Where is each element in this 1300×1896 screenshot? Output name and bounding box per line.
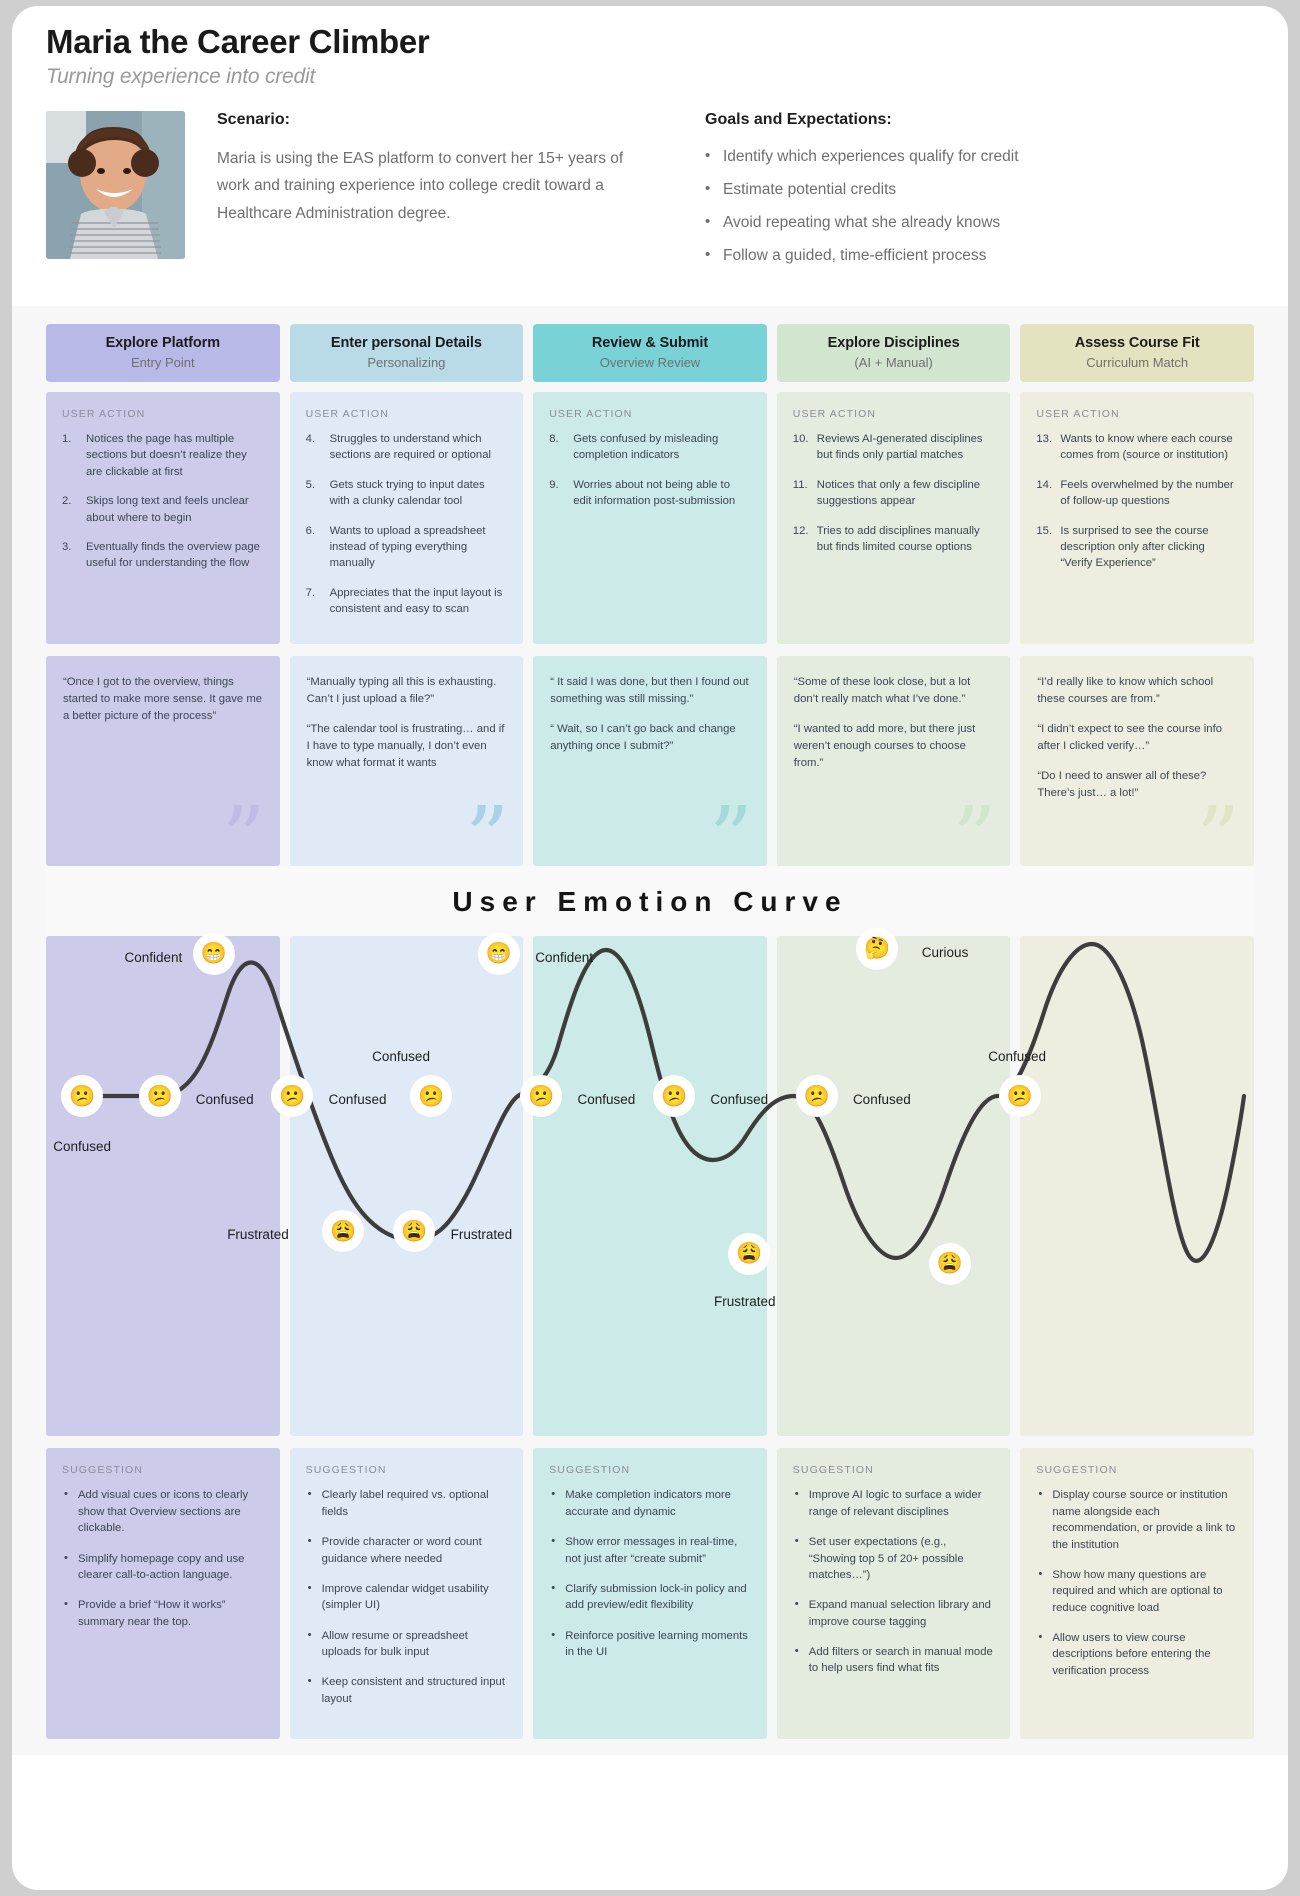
item-number: 13.	[1036, 431, 1052, 447]
quote-text: “Once I got to the overview, things star…	[63, 674, 263, 725]
item-text: Skips long text and feels unclear about …	[86, 495, 249, 523]
quote-mark-icon: ”	[952, 796, 996, 866]
goal-item: Identify which experiences qualify for c…	[705, 145, 1175, 169]
emotion-node-label: Confused	[710, 1092, 768, 1107]
card-label: USER ACTION	[62, 408, 264, 420]
item-number: 9.	[549, 477, 558, 493]
user-action-card-5: USER ACTION 13.Wants to know where each …	[1020, 392, 1254, 644]
suggestion-card-1: SUGGESTION Add visual cues or icons to c…	[46, 1448, 280, 1739]
phase-header-assess-course-fit[interactable]: Assess Course Fit Curriculum Match	[1020, 324, 1254, 382]
list-item: Show how many questions are required and…	[1036, 1567, 1238, 1616]
page-subtitle: Turning experience into credit	[46, 65, 1254, 89]
list-item: Improve AI logic to surface a wider rang…	[793, 1487, 995, 1520]
quote-text: “I didn’t expect to see the course info …	[1037, 721, 1237, 755]
quote-card-4: “Some of these look close, but a lot don…	[777, 656, 1011, 866]
item-number: 6.	[306, 523, 315, 539]
list-item: Simplify homepage copy and use clearer c…	[62, 1551, 264, 1584]
list-item: Reinforce positive learning moments in t…	[549, 1628, 751, 1661]
list-item: 4.Struggles to understand which sections…	[306, 431, 508, 464]
phase-name: Enter personal Details	[298, 335, 516, 351]
emotion-node-label: Confused	[578, 1092, 636, 1107]
list-item: 13.Wants to know where each course comes…	[1036, 431, 1238, 464]
item-number: 11.	[793, 477, 808, 493]
suggestion-card-4: SUGGESTION Improve AI logic to surface a…	[777, 1448, 1011, 1739]
quote-text: “Manually typing all this is exhausting.…	[307, 674, 507, 708]
emotion-node-confident-2[interactable]: 😁	[482, 937, 516, 971]
user-action-list: 10.Reviews AI-generated disciplines but …	[793, 431, 995, 555]
quote-mark-icon: ”	[465, 796, 509, 866]
suggestion-list: Display course source or institution nam…	[1036, 1487, 1238, 1679]
emotion-node-label: Confused	[329, 1092, 387, 1107]
card-label: USER ACTION	[1036, 408, 1238, 420]
quote-row: “Once I got to the overview, things star…	[46, 656, 1254, 866]
phase-subtitle: Overview Review	[541, 355, 759, 370]
list-item: 1.Notices the page has multiple sections…	[62, 431, 264, 480]
emotion-node-label: Confused	[853, 1092, 911, 1107]
quote-text: “The calendar tool is frustrating… and i…	[307, 721, 507, 772]
suggestion-list: Clearly label required vs. optional fiel…	[306, 1487, 508, 1707]
phase-header-enter-personal-details[interactable]: Enter personal Details Personalizing	[290, 324, 524, 382]
card-label: SUGGESTION	[549, 1464, 751, 1476]
list-item: Show error messages in real-time, not ju…	[549, 1534, 751, 1567]
emotion-curve-title-band: User Emotion Curve	[46, 866, 1254, 936]
list-item: 11.Notices that only a few discipline su…	[793, 477, 995, 510]
emotion-node-label: Frustrated	[714, 1294, 776, 1309]
suggestion-list: Make completion indicators more accurate…	[549, 1487, 751, 1660]
phase-header-row: Explore Platform Entry Point Enter perso…	[46, 324, 1254, 382]
list-item: Add filters or search in manual mode to …	[793, 1644, 995, 1677]
item-text: Feels overwhelmed by the number of follo…	[1060, 479, 1233, 507]
item-number: 8.	[549, 431, 558, 447]
phase-name: Explore Platform	[54, 335, 272, 351]
goals-heading: Goals and Expectations:	[705, 111, 1175, 129]
list-item: 12.Tries to add disciplines manually but…	[793, 523, 995, 556]
goals-block: Goals and Expectations: Identify which e…	[705, 111, 1175, 277]
list-item: Clearly label required vs. optional fiel…	[306, 1487, 508, 1520]
item-text: Notices the page has multiple sections b…	[86, 433, 247, 478]
quote-mark-icon: ”	[222, 796, 266, 866]
emotion-node-label: Confident	[535, 950, 593, 965]
user-action-card-1: USER ACTION 1.Notices the page has multi…	[46, 392, 280, 644]
phase-subtitle: Entry Point	[54, 355, 272, 370]
avatar	[46, 111, 185, 259]
list-item: Set user expectations (e.g., “Showing to…	[793, 1534, 995, 1583]
scenario-block: Scenario: Maria is using the EAS platfor…	[217, 111, 647, 277]
quote-text: “I’d really like to know which school th…	[1037, 674, 1237, 708]
item-text: Wants to know where each course comes fr…	[1060, 433, 1232, 461]
card-label: SUGGESTION	[62, 1464, 264, 1476]
list-item: Improve calendar widget usability (simpl…	[306, 1581, 508, 1614]
journey-map-page: Maria the Career Climber Turning experie…	[12, 6, 1288, 1890]
list-item: Expand manual selection library and impr…	[793, 1597, 995, 1630]
emotion-node-label: Confused	[988, 1049, 1046, 1064]
quote-text: “I wanted to add more, but there just we…	[794, 721, 994, 772]
emotion-node-label: Curious	[922, 945, 969, 960]
item-text: Notices that only a few discipline sugge…	[817, 479, 980, 507]
scenario-text: Maria is using the EAS platform to conve…	[217, 145, 647, 226]
card-label: SUGGESTION	[306, 1464, 508, 1476]
scenario-heading: Scenario:	[217, 111, 647, 129]
suggestion-card-5: SUGGESTION Display course source or inst…	[1020, 1448, 1254, 1739]
list-item: Allow resume or spreadsheet uploads for …	[306, 1628, 508, 1661]
goal-item: Estimate potential credits	[705, 178, 1175, 202]
item-number: 10.	[793, 431, 809, 447]
quote-card-5: “I’d really like to know which school th…	[1020, 656, 1254, 866]
phase-name: Explore Disciplines	[785, 335, 1003, 351]
user-action-card-2: USER ACTION 4.Struggles to understand wh…	[290, 392, 524, 644]
emotion-node-label: Frustrated	[227, 1227, 289, 1242]
emotion-node-frustrated-4[interactable]: 😩	[933, 1247, 967, 1281]
emotion-curve-chart: 😕 Confused 😕 Confused 😁 Confident 😕 Conf…	[46, 936, 1254, 1436]
suggestion-list: Add visual cues or icons to clearly show…	[62, 1487, 264, 1630]
item-number: 4.	[306, 431, 315, 447]
user-action-row: USER ACTION 1.Notices the page has multi…	[46, 392, 1254, 644]
card-label: USER ACTION	[793, 408, 995, 420]
item-text: Struggles to understand which sections a…	[330, 433, 491, 461]
list-item: 9.Worries about not being able to edit i…	[549, 477, 751, 510]
quote-text: “ Wait, so I can’t go back and change an…	[550, 721, 750, 755]
emotion-node-curious[interactable]: 🤔	[860, 932, 894, 966]
item-number: 1.	[62, 431, 71, 447]
goal-item: Avoid repeating what she already knows	[705, 211, 1175, 235]
list-item: 6.Wants to upload a spreadsheet instead …	[306, 523, 508, 572]
emotion-node-label: Frustrated	[451, 1227, 513, 1242]
list-item: 7.Appreciates that the input layout is c…	[306, 585, 508, 618]
item-text: Eventually finds the overview page usefu…	[86, 541, 260, 569]
list-item: Clarify submission lock-in policy and ad…	[549, 1581, 751, 1614]
list-item: Add visual cues or icons to clearly show…	[62, 1487, 264, 1536]
card-label: SUGGESTION	[1036, 1464, 1238, 1476]
list-item: Make completion indicators more accurate…	[549, 1487, 751, 1520]
item-text: Appreciates that the input layout is con…	[330, 587, 503, 615]
quote-mark-icon: ”	[709, 796, 753, 866]
user-action-card-4: USER ACTION 10.Reviews AI-generated disc…	[777, 392, 1011, 644]
list-item: Provide a brief “How it works” summary n…	[62, 1597, 264, 1630]
page-title: Maria the Career Climber	[46, 24, 1254, 60]
suggestion-card-2: SUGGESTION Clearly label required vs. op…	[290, 1448, 524, 1739]
phase-subtitle: Curriculum Match	[1028, 355, 1246, 370]
item-number: 7.	[306, 585, 315, 601]
emotion-node-confused-2[interactable]: 😕	[143, 1079, 177, 1113]
emotion-node-label: Confused	[372, 1049, 430, 1064]
list-item: Allow users to view course descriptions …	[1036, 1630, 1238, 1679]
item-text: Wants to upload a spreadsheet instead of…	[330, 525, 486, 570]
user-action-list: 13.Wants to know where each course comes…	[1036, 431, 1238, 572]
list-item: Display course source or institution nam…	[1036, 1487, 1238, 1553]
item-number: 14.	[1036, 477, 1052, 493]
list-item: 3.Eventually finds the overview page use…	[62, 539, 264, 572]
card-label: SUGGESTION	[793, 1464, 995, 1476]
list-item: 10.Reviews AI-generated disciplines but …	[793, 431, 995, 464]
emotion-node-label: Confused	[196, 1092, 254, 1107]
emotion-curve-title: User Emotion Curve	[46, 886, 1254, 918]
emotion-node-confident-1[interactable]: 😁	[197, 937, 231, 971]
emotion-node-confused-8[interactable]: 😕	[1003, 1079, 1037, 1113]
emotion-node-label: Confused	[53, 1139, 111, 1154]
item-text: Gets stuck trying to input dates with a …	[330, 479, 485, 507]
list-item: 14.Feels overwhelmed by the number of fo…	[1036, 477, 1238, 510]
item-text: Is surprised to see the course descripti…	[1060, 525, 1208, 570]
phase-name: Review & Submit	[541, 335, 759, 351]
list-item: 15.Is surprised to see the course descri…	[1036, 523, 1238, 572]
phase-header-explore-disciplines[interactable]: Explore Disciplines (AI + Manual)	[777, 324, 1011, 382]
user-action-list: 4.Struggles to understand which sections…	[306, 431, 508, 617]
quote-text: “ It said I was done, but then I found o…	[550, 674, 750, 708]
emotion-node-label: Confident	[125, 950, 183, 965]
item-text: Gets confused by misleading completion i…	[573, 433, 718, 461]
item-number: 3.	[62, 539, 71, 555]
phase-header-review-and-submit[interactable]: Review & Submit Overview Review	[533, 324, 767, 382]
journey-board: Explore Platform Entry Point Enter perso…	[12, 306, 1288, 1755]
phase-subtitle: Personalizing	[298, 355, 516, 370]
card-label: USER ACTION	[549, 408, 751, 420]
phase-header-explore-platform[interactable]: Explore Platform Entry Point	[46, 324, 280, 382]
emotion-node-frustrated-3[interactable]: 😩	[732, 1237, 766, 1271]
user-action-list: 8.Gets confused by misleading completion…	[549, 431, 751, 510]
phase-subtitle: (AI + Manual)	[785, 355, 1003, 370]
item-number: 2.	[62, 493, 71, 509]
quote-text: “Some of these look close, but a lot don…	[794, 674, 994, 708]
goals-list: Identify which experiences qualify for c…	[705, 145, 1175, 268]
suggestion-card-3: SUGGESTION Make completion indicators mo…	[533, 1448, 767, 1739]
quote-card-1: “Once I got to the overview, things star…	[46, 656, 280, 866]
quote-mark-icon: ”	[1196, 796, 1240, 866]
item-text: Tries to add disciplines manually but fi…	[817, 525, 980, 553]
item-text: Worries about not being able to edit inf…	[573, 479, 735, 507]
quote-card-2: “Manually typing all this is exhausting.…	[290, 656, 524, 866]
list-item: 2.Skips long text and feels unclear abou…	[62, 493, 264, 526]
persona-header: Maria the Career Climber Turning experie…	[12, 6, 1288, 306]
emotion-node-confused-7[interactable]: 😕	[800, 1079, 834, 1113]
user-action-list: 1.Notices the page has multiple sections…	[62, 431, 264, 572]
quote-card-3: “ It said I was done, but then I found o…	[533, 656, 767, 866]
phase-name: Assess Course Fit	[1028, 335, 1246, 351]
list-item: Provide character or word count guidance…	[306, 1534, 508, 1567]
goal-item: Follow a guided, time-efficient process	[705, 244, 1175, 268]
list-item: 8.Gets confused by misleading completion…	[549, 431, 751, 464]
suggestion-list: Improve AI logic to surface a wider rang…	[793, 1487, 995, 1676]
list-item: 5.Gets stuck trying to input dates with …	[306, 477, 508, 510]
list-item: Keep consistent and structured input lay…	[306, 1674, 508, 1707]
emotion-curve-line	[46, 936, 1254, 1436]
user-action-card-3: USER ACTION 8.Gets confused by misleadin…	[533, 392, 767, 644]
item-number: 12.	[793, 523, 809, 539]
card-label: USER ACTION	[306, 408, 508, 420]
item-number: 5.	[306, 477, 315, 493]
item-number: 15.	[1036, 523, 1052, 539]
item-text: Reviews AI-generated disciplines but fin…	[817, 433, 983, 461]
suggestion-row: SUGGESTION Add visual cues or icons to c…	[46, 1448, 1254, 1755]
